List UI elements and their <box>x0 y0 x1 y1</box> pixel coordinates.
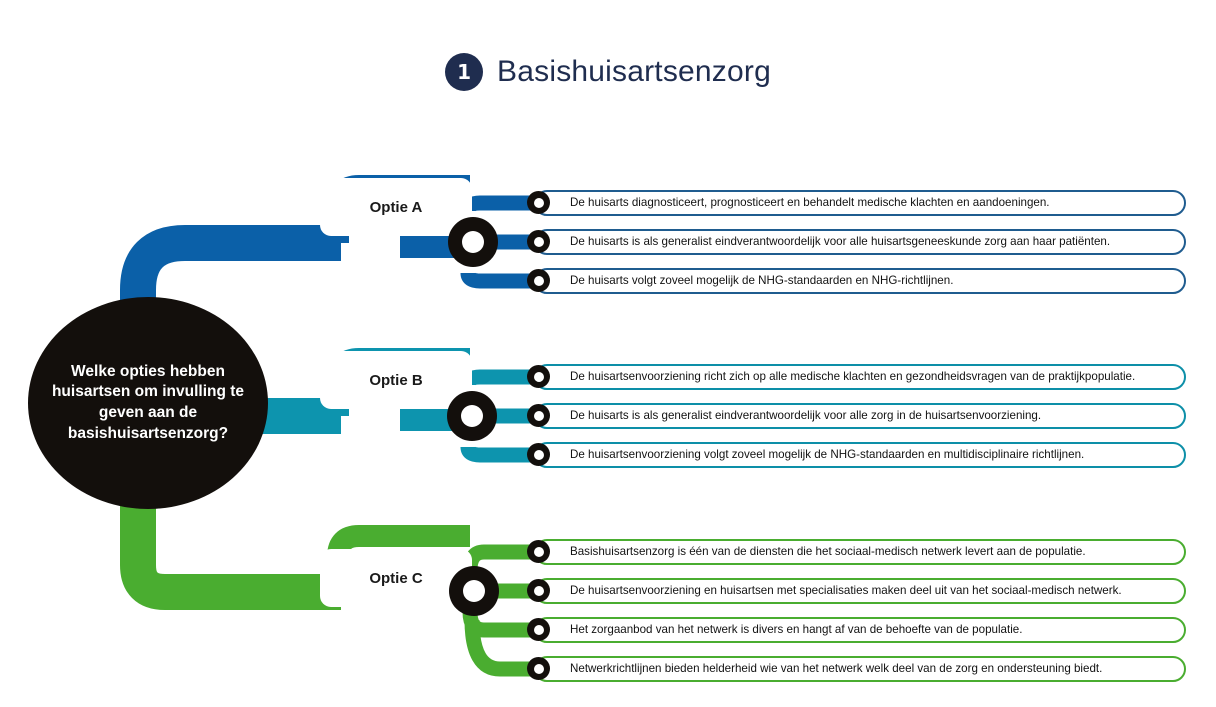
bullet-ring-c3 <box>527 618 550 641</box>
hub-ring-option-b <box>447 391 497 441</box>
bullet-ring-b1 <box>527 365 550 388</box>
option-b-label: Optie B <box>369 372 422 389</box>
bullet-ring-b2 <box>527 404 550 427</box>
statement-text-c1: Basishuisartsenzorg is één van de dienst… <box>536 546 1086 558</box>
option-c-label: Optie C <box>369 570 422 587</box>
option-box-b[interactable]: Optie B <box>320 351 472 409</box>
central-question-text: Welke opties hebben huisartsen om invull… <box>44 362 252 444</box>
statement-text-a1: De huisarts diagnosticeert, prognosticee… <box>536 197 1050 209</box>
bullet-ring-a2 <box>527 230 550 253</box>
bullet-ring-a3 <box>527 269 550 292</box>
statement-pill-a1[interactable]: De huisarts diagnosticeert, prognosticee… <box>534 190 1186 216</box>
statement-text-b1: De huisartsenvoorziening richt zich op a… <box>536 371 1135 383</box>
statement-pill-b3[interactable]: De huisartsenvoorziening volgt zoveel mo… <box>534 442 1186 468</box>
bullet-ring-c4 <box>527 657 550 680</box>
statement-text-a2: De huisarts is als generalist eindverant… <box>536 236 1110 248</box>
central-question-node: Welke opties hebben huisartsen om invull… <box>28 297 268 509</box>
option-a-label: Optie A <box>370 199 423 216</box>
statement-text-a3: De huisarts volgt zoveel mogelijk de NHG… <box>536 275 953 287</box>
hub-ring-option-c <box>449 566 499 616</box>
pipe-center-to-option-c <box>138 500 341 592</box>
statement-text-c4: Netwerkrichtlijnen bieden helderheid wie… <box>536 663 1102 675</box>
bullet-ring-b3 <box>527 443 550 466</box>
statement-pill-a3[interactable]: De huisarts volgt zoveel mogelijk de NHG… <box>534 268 1186 294</box>
statement-text-c3: Het zorgaanbod van het netwerk is divers… <box>536 624 1022 636</box>
statement-pill-c3[interactable]: Het zorgaanbod van het netwerk is divers… <box>534 617 1186 643</box>
bullet-ring-c1 <box>527 540 550 563</box>
statement-text-c2: De huisartsenvoorziening en huisartsen m… <box>536 585 1122 597</box>
diagram-canvas: 1 Basishuisartsenzorg Welke opties hebbe… <box>0 0 1216 707</box>
statement-pill-c2[interactable]: De huisartsenvoorziening en huisartsen m… <box>534 578 1186 604</box>
statement-pill-a2[interactable]: De huisarts is als generalist eindverant… <box>534 229 1186 255</box>
hub-ring-option-a <box>448 217 498 267</box>
option-box-a[interactable]: Optie A <box>320 178 472 236</box>
statement-pill-c1[interactable]: Basishuisartsenzorg is één van de dienst… <box>534 539 1186 565</box>
statement-text-b2: De huisarts is als generalist eindverant… <box>536 410 1041 422</box>
bullet-ring-c2 <box>527 579 550 602</box>
bullet-ring-a1 <box>527 191 550 214</box>
statement-pill-b1[interactable]: De huisartsenvoorziening richt zich op a… <box>534 364 1186 390</box>
statement-pill-c4[interactable]: Netwerkrichtlijnen bieden helderheid wie… <box>534 656 1186 682</box>
statement-text-b3: De huisartsenvoorziening volgt zoveel mo… <box>536 449 1084 461</box>
statement-pill-b2[interactable]: De huisarts is als generalist eindverant… <box>534 403 1186 429</box>
